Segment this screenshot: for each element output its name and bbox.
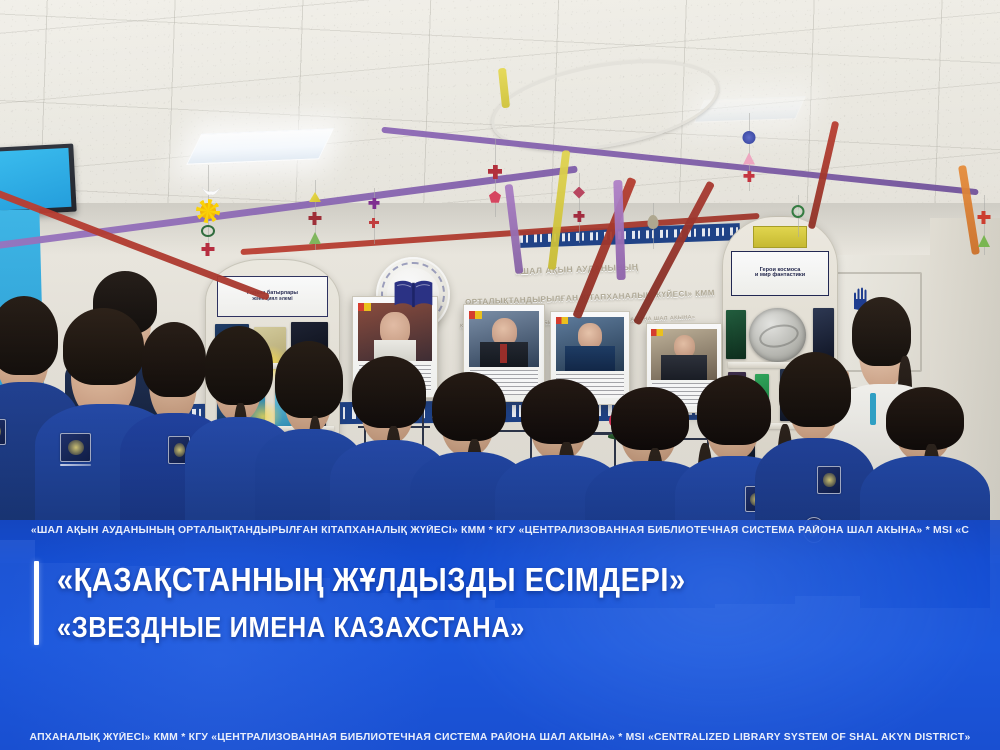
snowflake-icon	[743, 131, 756, 144]
uniform-shoulder-patch	[0, 419, 6, 445]
ceiling-light-panel	[186, 129, 334, 166]
portrait-photo	[651, 329, 716, 380]
portrait-photo	[469, 311, 539, 366]
portrait-photo	[358, 303, 432, 361]
event-banner-image: Н «ШАЛ АҚЫН АУДАНЫНЫҢ ОРТАЛЫҚТАНДЫРЫЛҒАН…	[0, 0, 1000, 750]
uniform-stripe	[60, 464, 91, 466]
star-icon	[489, 191, 501, 203]
portrait-uniform	[565, 346, 616, 371]
hanging-mobile	[305, 180, 325, 250]
shelf-left-sign-line2: және қиял әлемі	[252, 297, 292, 302]
accent-bar	[34, 561, 39, 645]
marquee-bottom: АПХАНАЛЫҚ ЖҮЙЕСІ» КММ * КГУ «ЦЕНТРАЛИЗОВ…	[0, 732, 1000, 743]
hanging-mobile	[975, 195, 993, 255]
title-block: «ҚАЗАҚСТАННЫҢ ЖҰЛДЫЗДЫ ЕСІМДЕРІ» «ЗВЕЗДН…	[34, 561, 771, 645]
cross-icon	[309, 212, 322, 225]
event-title-russian: «ЗВЕЗДНЫЕ ИМЕНА КАЗАХСТАНА»	[57, 612, 686, 645]
flag-strip	[469, 311, 482, 319]
triangle-icon	[743, 153, 755, 165]
sun-icon	[200, 203, 216, 219]
leaf-icon	[648, 215, 659, 229]
shelf-right-sign-line2: и мир фантастики	[755, 273, 805, 279]
cross-icon	[202, 243, 215, 256]
person-hair	[779, 352, 851, 426]
flag-strip	[358, 303, 371, 311]
hanging-mobile	[790, 195, 806, 237]
hanging-mobile	[740, 113, 758, 191]
planet-decoration	[749, 308, 806, 362]
display-book	[726, 310, 745, 359]
cross-icon	[574, 211, 585, 222]
title-group: «ҚАЗАҚСТАННЫҢ ЖҰЛДЫЗДЫ ЕСІМДЕРІ» «ЗВЕЗДН…	[57, 561, 771, 645]
marquee-top: «ШАЛ АҚЫН АУДАНЫНЫҢ ОРТАЛЫҚТАНДЫРЫЛҒАН К…	[0, 525, 1000, 536]
hanging-thread	[374, 188, 375, 244]
cross-icon	[978, 211, 991, 224]
shelf-right-sign: Герои космоса и мир фантастики	[731, 251, 829, 295]
cross-icon	[369, 198, 380, 209]
uniform-shoulder-patch	[817, 466, 841, 494]
cross-icon	[369, 218, 379, 228]
cross-icon	[488, 165, 502, 179]
hanging-mobile	[195, 165, 221, 255]
hanging-mobile	[485, 139, 505, 217]
portrait-suit	[661, 355, 708, 380]
portrait-photo	[556, 317, 625, 371]
hanging-mobile	[570, 173, 588, 243]
diamond-icon	[573, 187, 585, 199]
uniform-shoulder-patch	[60, 433, 91, 462]
bird-icon	[201, 184, 215, 193]
hanging-mobile	[645, 203, 661, 249]
portrait-tie	[500, 344, 507, 363]
ring-icon	[201, 225, 215, 237]
open-book-icon	[392, 279, 435, 309]
triangle-icon	[309, 192, 321, 202]
hanging-thread	[579, 173, 580, 243]
flag-strip	[651, 329, 663, 336]
person-hair	[886, 387, 964, 450]
bottom-banner-overlay: «ШАЛ АҚЫН АУДАНЫНЫҢ ОРТАЛЫҚТАНДЫРЫЛҒАН К…	[0, 520, 1000, 750]
triangle-icon	[978, 235, 990, 247]
cross-icon	[744, 171, 755, 182]
globe-icon	[792, 205, 805, 218]
triangle-icon	[309, 232, 321, 244]
flag-strip	[556, 317, 568, 324]
hanging-mobile	[365, 188, 383, 244]
event-title-kazakh: «ҚАЗАҚСТАННЫҢ ЖҰЛДЫЗДЫ ЕСІМДЕРІ»	[57, 561, 686, 599]
